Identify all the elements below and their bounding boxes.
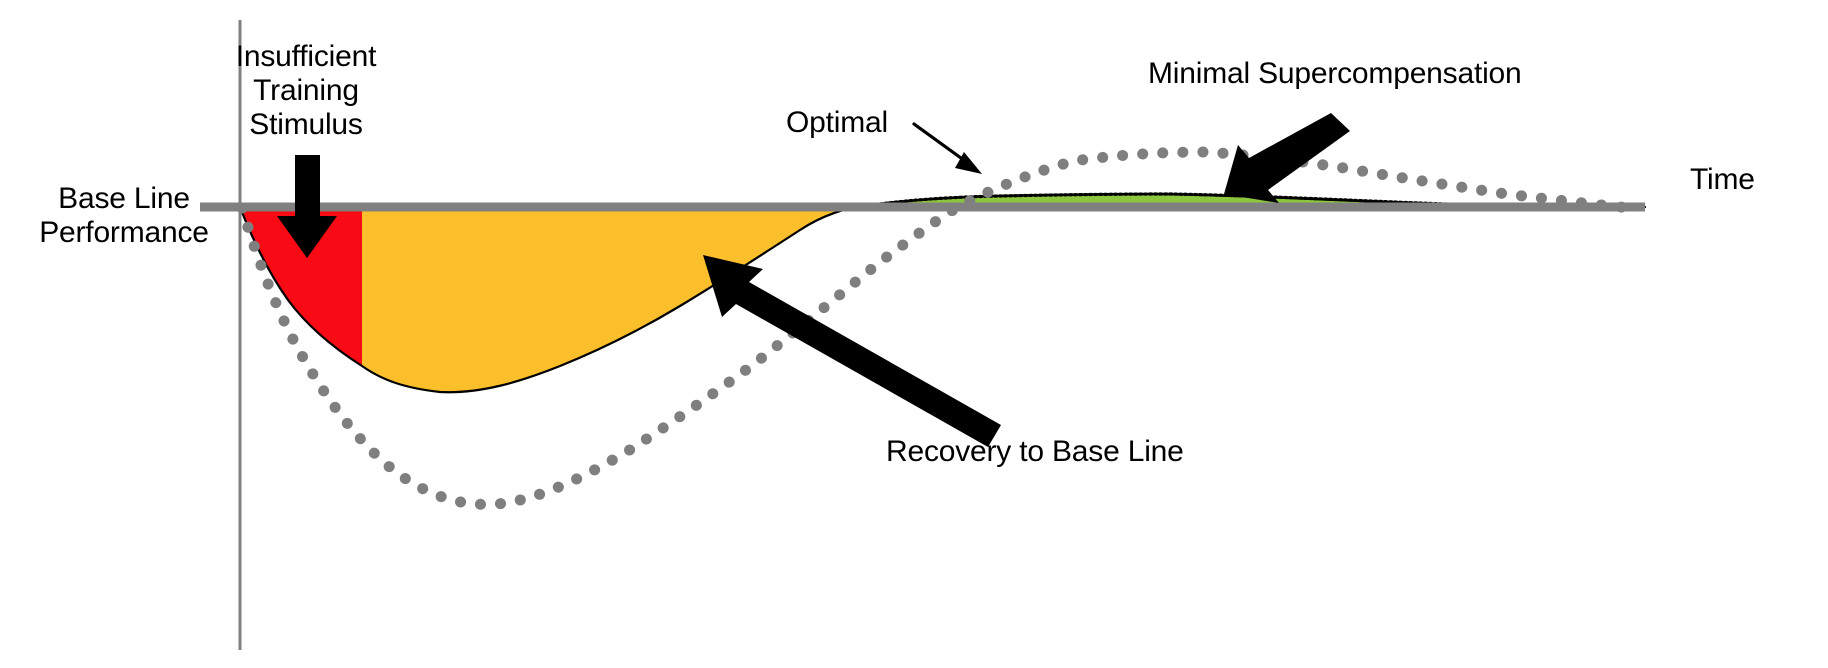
diagonal-arrow-down-left-icon — [1224, 113, 1350, 203]
label-minimal-supercompensation: Minimal Supercompensation — [1148, 57, 1522, 91]
label-recovery-to-base-line: Recovery to Base Line — [886, 435, 1184, 469]
thin-arrow-down-right-icon — [914, 124, 982, 174]
label-baseline-performance: Base Line Performance — [18, 182, 230, 250]
label-insufficient-training-stimulus: Insufficient Training Stimulus — [216, 40, 396, 143]
label-time-axis: Time — [1690, 163, 1755, 197]
diagram-canvas: Base Line Performance Insufficient Train… — [0, 0, 1828, 668]
label-optimal: Optimal — [786, 106, 888, 140]
